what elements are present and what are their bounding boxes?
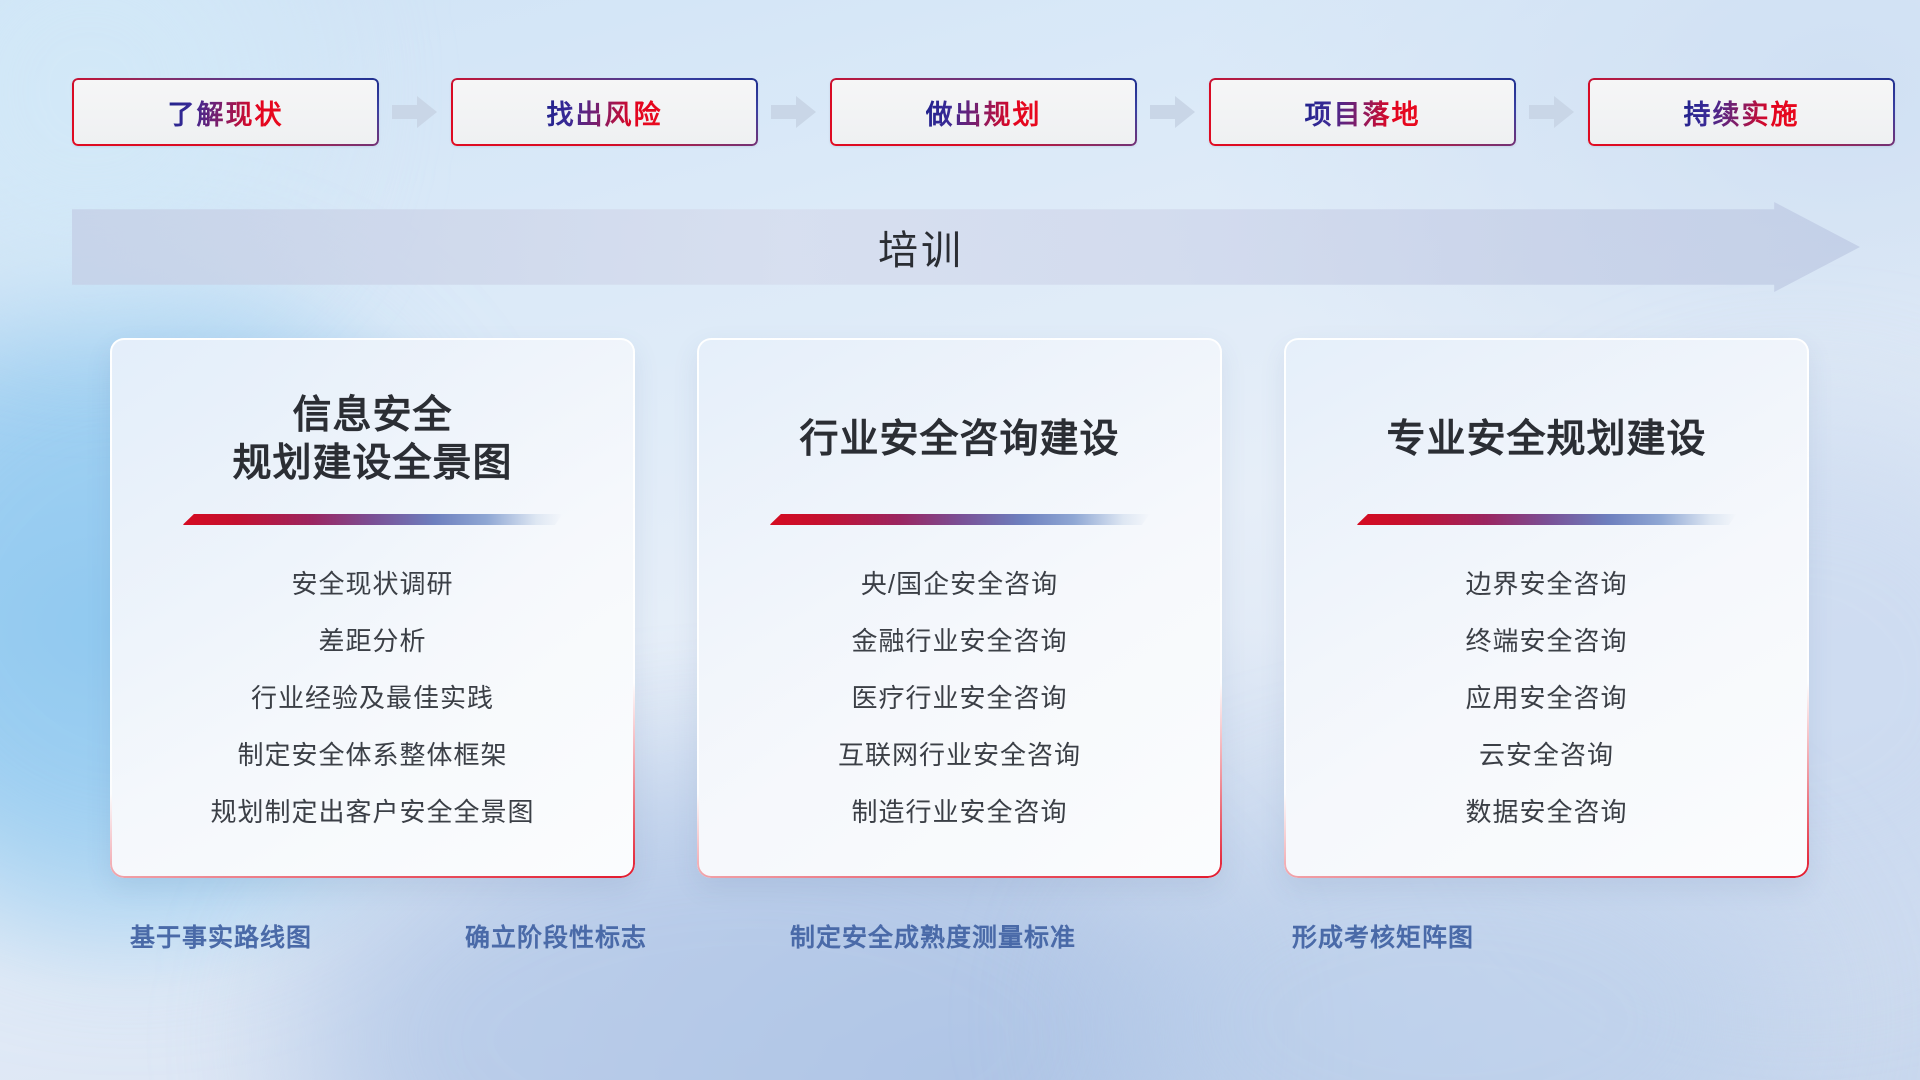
- arrow-right-icon: [391, 92, 439, 132]
- card-title: 行业安全咨询建设: [799, 390, 1119, 490]
- list-item: 差距分析: [144, 618, 601, 664]
- step-label: 做出规划: [926, 93, 1042, 132]
- card-information-security-blueprint[interactable]: 信息安全 规划建设全景图 安全现状调研 差距分析 行业经验及最佳实践 制定安全体…: [110, 338, 635, 878]
- list-item: 互联网行业安全咨询: [731, 732, 1188, 778]
- list-item: 应用安全咨询: [1318, 675, 1775, 721]
- card-item-list: 安全现状调研 差距分析 行业经验及最佳实践 制定安全体系整体框架 规划制定出客户…: [144, 561, 601, 846]
- card-professional-security-planning[interactable]: 专业安全规划建设 边界安全咨询 终端安全咨询 应用安全咨询 云安全咨询 数据安全…: [1284, 338, 1809, 878]
- caption-2: 制定安全成熟度测量标准: [790, 918, 1076, 954]
- card-title-line-2: 规划建设全景图: [232, 440, 512, 488]
- list-item: 行业经验及最佳实践: [144, 675, 601, 721]
- caption-row: 基于事实路线图 确立阶段性标志 制定安全成熟度测量标准 形成考核矩阵图: [0, 918, 1920, 962]
- card-item-list: 央/国企安全咨询 金融行业安全咨询 医疗行业安全咨询 互联网行业安全咨询 制造行…: [731, 561, 1188, 846]
- list-item: 云安全咨询: [1318, 732, 1775, 778]
- list-item: 制造行业安全咨询: [731, 789, 1188, 835]
- list-item: 金融行业安全咨询: [731, 618, 1188, 664]
- step-box-4[interactable]: 项目落地: [1209, 78, 1516, 146]
- caption-0: 基于事实路线图: [130, 918, 312, 954]
- list-item: 安全现状调研: [144, 561, 601, 607]
- card-title-line-1: 专业安全规划建设: [1386, 418, 1706, 461]
- list-item: 规划制定出客户安全全景图: [144, 789, 601, 835]
- card-title-line-1: 行业安全咨询建设: [799, 418, 1119, 461]
- card-divider: [770, 514, 1150, 525]
- card-title: 信息安全 规划建设全景图: [232, 390, 512, 490]
- caption-1: 确立阶段性标志: [465, 918, 647, 954]
- step-label: 持续实施: [1684, 93, 1800, 132]
- card-divider: [1357, 514, 1737, 525]
- list-item: 制定安全体系整体框架: [144, 732, 601, 778]
- slide-canvas: 了解现状 找出风险 做出规划 项目落地: [0, 0, 1920, 1080]
- arrow-right-icon: [1149, 92, 1197, 132]
- card-industry-security-consulting[interactable]: 行业安全咨询建设 央/国企安全咨询 金融行业安全咨询 医疗行业安全咨询 互联网行…: [697, 338, 1222, 878]
- list-item: 终端安全咨询: [1318, 618, 1775, 664]
- training-banner: 培训: [72, 202, 1860, 292]
- list-item: 医疗行业安全咨询: [731, 675, 1188, 721]
- card-divider: [183, 514, 563, 525]
- card-title-line-1: 信息安全: [292, 394, 452, 437]
- list-item: 央/国企安全咨询: [731, 561, 1188, 607]
- step-box-2[interactable]: 找出风险: [451, 78, 758, 146]
- caption-3: 形成考核矩阵图: [1292, 918, 1474, 954]
- arrow-right-icon: [1528, 92, 1576, 132]
- card-title: 专业安全规划建设: [1386, 390, 1706, 490]
- step-box-3[interactable]: 做出规划: [830, 78, 1137, 146]
- banner-title: 培训: [72, 202, 1770, 292]
- step-box-1[interactable]: 了解现状: [72, 78, 379, 146]
- process-step-row: 了解现状 找出风险 做出规划 项目落地: [72, 78, 1856, 146]
- step-label: 找出风险: [547, 93, 663, 132]
- arrow-right-icon: [770, 92, 818, 132]
- card-row: 信息安全 规划建设全景图 安全现状调研 差距分析 行业经验及最佳实践 制定安全体…: [110, 338, 1810, 878]
- list-item: 数据安全咨询: [1318, 789, 1775, 835]
- list-item: 边界安全咨询: [1318, 561, 1775, 607]
- step-box-5[interactable]: 持续实施: [1588, 78, 1895, 146]
- step-label: 项目落地: [1305, 93, 1421, 132]
- card-item-list: 边界安全咨询 终端安全咨询 应用安全咨询 云安全咨询 数据安全咨询: [1318, 561, 1775, 846]
- step-label: 了解现状: [168, 93, 284, 132]
